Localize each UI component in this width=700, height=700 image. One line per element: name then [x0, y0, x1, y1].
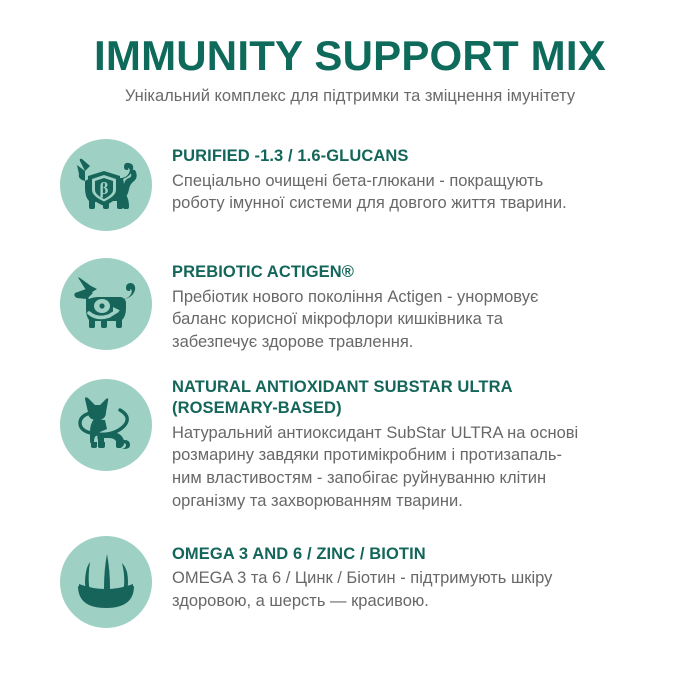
feature-text: OMEGA 3 AND 6 / ZINC / BIOTIN OMEGA 3 та… — [154, 534, 672, 613]
feature-text: PURIFIED -1.3 / 1.6-GLUCANS Спеціально о… — [154, 137, 672, 215]
feature-icon-wrap: β — [58, 137, 154, 233]
immunity-support-infographic: IMMUNITY SUPPORT MIX Унікальний комплекс… — [0, 0, 700, 700]
icon-circle — [60, 536, 152, 628]
shield-beta-label: β — [100, 179, 109, 198]
feature-item-glucans: β PURIFIED -1.3 / 1.6-GLUCANS Спеціально… — [58, 137, 672, 233]
dog-shield-beta-icon: β — [73, 157, 139, 213]
icon-circle — [60, 258, 152, 350]
feature-title: PURIFIED -1.3 / 1.6-GLUCANS — [172, 146, 672, 167]
feature-body: OMEGA 3 та 6 / Цинк / Біотин - підтримую… — [172, 567, 672, 613]
icon-circle: β — [60, 139, 152, 231]
feature-text: NATURAL ANTIOXIDANT SUBSTAR ULTRA (ROSEM… — [154, 377, 672, 513]
feature-item-omega: OMEGA 3 AND 6 / ZINC / BIOTIN OMEGA 3 та… — [58, 534, 672, 630]
header: IMMUNITY SUPPORT MIX Унікальний комплекс… — [0, 0, 700, 107]
feature-title: NATURAL ANTIOXIDANT SUBSTAR ULTRA (ROSEM… — [172, 377, 672, 419]
feature-text: PREBIOTIC ACTIGEN® Пребіотик нового поко… — [154, 256, 672, 354]
feature-title: PREBIOTIC ACTIGEN® — [172, 262, 672, 283]
feature-title: OMEGA 3 AND 6 / ZINC / BIOTIN — [172, 544, 672, 565]
hair-follicle-skin-icon — [74, 552, 138, 612]
cat-antioxidant-orbit-icon — [74, 396, 138, 454]
feature-icon-wrap — [58, 377, 154, 473]
feature-body: Натуральний антиоксидант SubStar ULTRA н… — [172, 422, 672, 513]
feature-icon-wrap — [58, 534, 154, 630]
feature-list: β PURIFIED -1.3 / 1.6-GLUCANS Спеціально… — [0, 137, 700, 630]
page-title: IMMUNITY SUPPORT MIX — [0, 34, 700, 78]
icon-circle — [60, 379, 152, 471]
page-subtitle: Унікальний комплекс для підтримки та змі… — [0, 87, 700, 107]
dog-digestion-arrow-icon — [73, 277, 139, 331]
feature-icon-wrap — [58, 256, 154, 352]
feature-item-antioxidant: NATURAL ANTIOXIDANT SUBSTAR ULTRA (ROSEM… — [58, 377, 672, 513]
feature-body: Спеціально очищені бета-глюкани - покращ… — [172, 170, 672, 216]
feature-item-prebiotic: PREBIOTIC ACTIGEN® Пребіотик нового поко… — [58, 256, 672, 354]
feature-body: Пребіотик нового покоління Actigen - уно… — [172, 286, 672, 354]
